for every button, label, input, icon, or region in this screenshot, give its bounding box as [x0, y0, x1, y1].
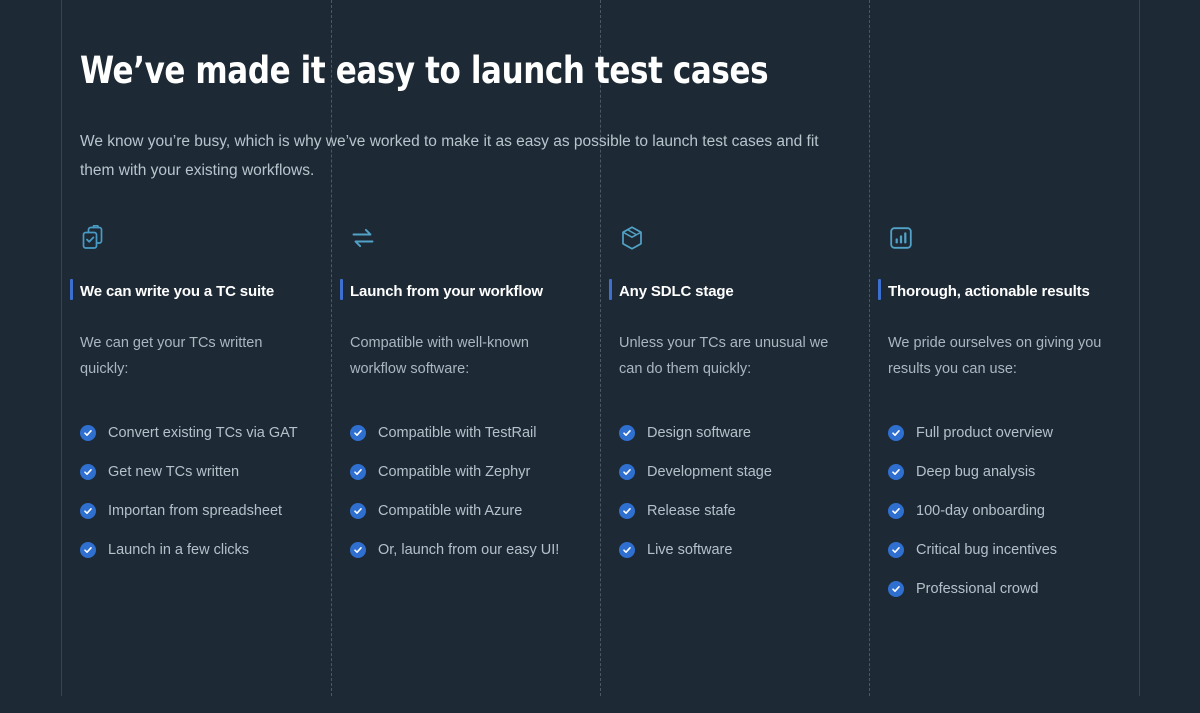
list-item: Development stage: [619, 461, 852, 483]
feature-column-write-tc-suite: We can write you a TC suite We can get y…: [80, 223, 350, 600]
cube-box-icon: [619, 223, 852, 253]
check-icon: [619, 425, 635, 441]
list-item: Launch in a few clicks: [80, 539, 314, 561]
feature-description: Compatible with well-known workflow soft…: [350, 301, 583, 382]
list-item-label: Live software: [647, 539, 732, 561]
feature-description: Unless your TCs are unusual we can do th…: [619, 301, 852, 382]
check-icon: [888, 464, 904, 480]
list-item: Compatible with Azure: [350, 500, 583, 522]
feature-checklist: Design software Development stage Releas…: [619, 382, 852, 561]
list-item: Importan from spreadsheet: [80, 500, 314, 522]
check-icon: [350, 542, 366, 558]
content-container: We’ve made it easy to launch test cases …: [80, 0, 1140, 600]
check-icon: [80, 425, 96, 441]
list-item-label: Critical bug incentives: [916, 539, 1057, 561]
feature-heading: Any SDLC stage: [619, 283, 734, 300]
feature-checklist: Convert existing TCs via GAT Get new TCs…: [80, 382, 314, 561]
list-item-label: Deep bug analysis: [916, 461, 1035, 483]
list-item-label: Development stage: [647, 461, 772, 483]
list-item: Live software: [619, 539, 852, 561]
list-item: Or, launch from our easy UI!: [350, 539, 583, 561]
check-icon: [888, 581, 904, 597]
check-icon: [350, 425, 366, 441]
list-item-label: 100-day onboarding: [916, 500, 1045, 522]
feature-heading-row: We can write you a TC suite: [80, 281, 314, 301]
list-item: Critical bug incentives: [888, 539, 1104, 561]
accent-bar: [609, 279, 612, 300]
feature-heading: We can write you a TC suite: [80, 283, 274, 300]
check-icon: [80, 542, 96, 558]
list-item: Compatible with Zephyr: [350, 461, 583, 483]
bar-chart-icon: [888, 223, 1104, 253]
page-subtitle: We know you’re busy, which is why we’ve …: [80, 93, 850, 185]
feature-heading-row: Any SDLC stage: [619, 281, 852, 301]
check-icon: [80, 503, 96, 519]
feature-section: We’ve made it easy to launch test cases …: [0, 0, 1200, 713]
list-item-label: Convert existing TCs via GAT: [108, 422, 298, 444]
check-icon: [350, 464, 366, 480]
feature-checklist: Compatible with TestRail Compatible with…: [350, 382, 583, 561]
list-item-label: Professional crowd: [916, 578, 1039, 600]
list-item: Full product overview: [888, 422, 1104, 444]
check-icon: [350, 503, 366, 519]
feature-column-launch-workflow: Launch from your workflow Compatible wit…: [350, 223, 619, 600]
clipboard-check-copy-icon: [80, 223, 314, 253]
check-icon: [619, 542, 635, 558]
check-icon: [888, 542, 904, 558]
feature-heading: Thorough, actionable results: [888, 283, 1090, 300]
list-item-label: Design software: [647, 422, 751, 444]
list-item: Design software: [619, 422, 852, 444]
accent-bar: [878, 279, 881, 300]
page-title: We’ve made it easy to launch test cases: [80, 0, 1066, 93]
feature-description: We pride ourselves on giving you results…: [888, 301, 1104, 382]
list-item-label: Or, launch from our easy UI!: [378, 539, 559, 561]
check-icon: [888, 425, 904, 441]
feature-heading: Launch from your workflow: [350, 283, 543, 300]
accent-bar: [340, 279, 343, 300]
accent-bar: [70, 279, 73, 300]
feature-column-actionable-results: Thorough, actionable results We pride ou…: [888, 223, 1140, 600]
list-item-label: Full product overview: [916, 422, 1053, 444]
feature-description: We can get your TCs written quickly:: [80, 301, 314, 382]
list-item-label: Launch in a few clicks: [108, 539, 249, 561]
feature-column-list: We can write you a TC suite We can get y…: [80, 185, 1140, 600]
feature-heading-row: Launch from your workflow: [350, 281, 583, 301]
list-item: Convert existing TCs via GAT: [80, 422, 314, 444]
list-item: Release stafe: [619, 500, 852, 522]
list-item-label: Importan from spreadsheet: [108, 500, 282, 522]
list-item-label: Get new TCs written: [108, 461, 239, 483]
list-item-label: Compatible with TestRail: [378, 422, 537, 444]
check-icon: [619, 503, 635, 519]
feature-checklist: Full product overview Deep bug analysis …: [888, 382, 1104, 600]
list-item-label: Compatible with Zephyr: [378, 461, 530, 483]
list-item: Deep bug analysis: [888, 461, 1104, 483]
list-item: Get new TCs written: [80, 461, 314, 483]
list-item-label: Release stafe: [647, 500, 736, 522]
grid-rule-left: [61, 0, 62, 696]
check-icon: [619, 464, 635, 480]
list-item: Compatible with TestRail: [350, 422, 583, 444]
feature-column-sdlc-stage: Any SDLC stage Unless your TCs are unusu…: [619, 223, 888, 600]
list-item: 100-day onboarding: [888, 500, 1104, 522]
check-icon: [80, 464, 96, 480]
feature-heading-row: Thorough, actionable results: [888, 281, 1104, 301]
exchange-arrows-icon: [350, 223, 583, 253]
list-item-label: Compatible with Azure: [378, 500, 522, 522]
list-item: Professional crowd: [888, 578, 1104, 600]
check-icon: [888, 503, 904, 519]
